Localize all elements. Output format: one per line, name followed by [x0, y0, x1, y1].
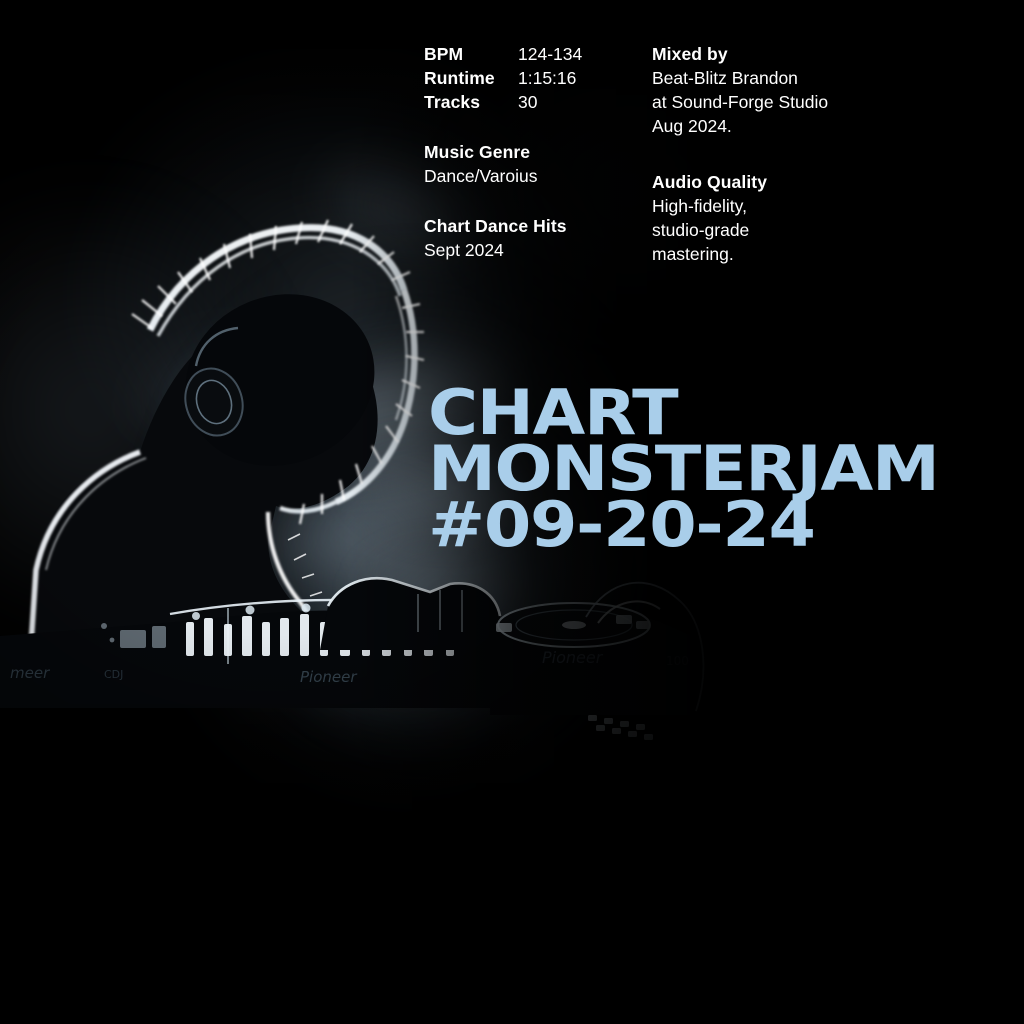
spec-value-tracks: 30: [518, 90, 537, 114]
cdj-turntable: Pioneer 100: [490, 565, 790, 745]
title-line-3: #09-20-24: [428, 497, 939, 553]
svg-text:meer: meer: [10, 664, 50, 682]
music-genre-block: Music Genre Dance/Varoius: [424, 140, 639, 188]
music-genre-value: Dance/Varoius: [424, 164, 639, 188]
chart-dance-hits-date: Sept 2024: [424, 238, 639, 262]
spec-row-tracks: Tracks 30: [424, 90, 639, 114]
album-cover: Pioneer meer CDJ Pioneer 100: [0, 0, 1024, 1024]
audio-quality-line-1: High-fidelity,: [652, 194, 902, 218]
spec-label-bpm: BPM: [424, 42, 518, 66]
mixed-by-line-1: Beat-Blitz Brandon: [652, 66, 902, 90]
mixed-by-line-3: Aug 2024.: [652, 114, 902, 138]
spec-row-runtime: Runtime 1:15:16: [424, 66, 639, 90]
spec-column-left: BPM 124-134 Runtime 1:15:16 Tracks 30 Mu…: [424, 42, 639, 262]
svg-text:100: 100: [666, 654, 689, 668]
mixed-by-heading: Mixed by: [652, 42, 902, 66]
spec-label-runtime: Runtime: [424, 66, 518, 90]
spec-value-runtime: 1:15:16: [518, 66, 576, 90]
chart-dance-hits-block: Chart Dance Hits Sept 2024: [424, 214, 639, 262]
music-genre-heading: Music Genre: [424, 140, 639, 164]
release-title: CHART MONSTERJAM #09-20-24: [428, 385, 892, 553]
mixed-by-line-2: at Sound-Forge Studio: [652, 90, 902, 114]
spec-column-right: Mixed by Beat-Blitz Brandon at Sound-For…: [652, 42, 902, 266]
spec-value-bpm: 124-134: [518, 42, 582, 66]
spec-label-tracks: Tracks: [424, 90, 518, 114]
audio-quality-block: Audio Quality High-fidelity, studio-grad…: [652, 170, 902, 266]
svg-text:Pioneer: Pioneer: [300, 668, 357, 686]
audio-quality-line-2: studio-grade: [652, 218, 902, 242]
mixed-by-block: Mixed by Beat-Blitz Brandon at Sound-For…: [652, 42, 902, 138]
spec-row-bpm: BPM 124-134: [424, 42, 639, 66]
audio-quality-heading: Audio Quality: [652, 170, 902, 194]
chart-dance-hits-heading: Chart Dance Hits: [424, 214, 639, 238]
svg-text:CDJ: CDJ: [104, 668, 123, 681]
audio-quality-line-3: mastering.: [652, 242, 902, 266]
svg-text:Pioneer: Pioneer: [542, 648, 604, 667]
